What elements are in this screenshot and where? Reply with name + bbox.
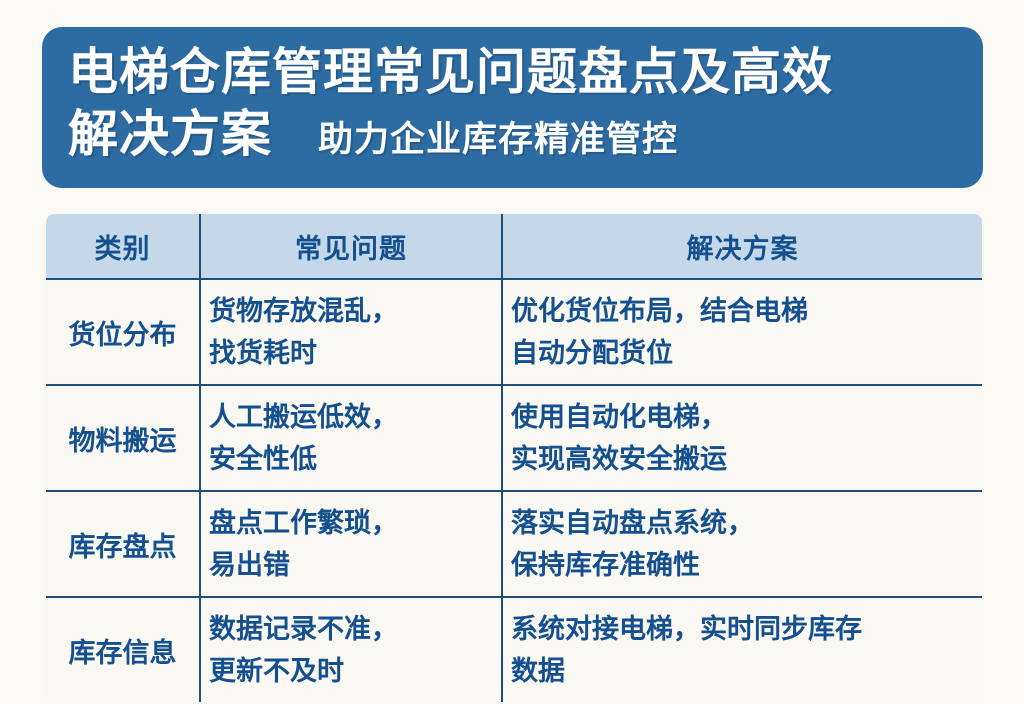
cell-category: 物料搬运 [45, 385, 200, 491]
table-body: 货位分布 货物存放混乱， 找货耗时 优化货位布局，结合电梯 自动分配货位 物料搬… [45, 279, 983, 703]
header-banner: 电梯仓库管理常见问题盘点及高效 解决方案 助力企业库存精准管控 [42, 27, 983, 188]
cell-category: 库存盘点 [45, 491, 200, 597]
table-row: 货位分布 货物存放混乱， 找货耗时 优化货位布局，结合电梯 自动分配货位 [45, 279, 983, 385]
cell-problem: 人工搬运低效， 安全性低 [200, 385, 502, 491]
page-subtitle: 助力企业库存精准管控 [318, 109, 678, 171]
page-root: 电梯仓库管理常见问题盘点及高效 解决方案 助力企业库存精准管控 类别 常见问题 … [0, 0, 1024, 683]
cell-problem-line-1: 货物存放混乱， [209, 290, 493, 332]
cell-problem: 货物存放混乱， 找货耗时 [200, 279, 502, 385]
cell-solution-line-2: 数据 [511, 650, 974, 692]
cell-problem-line-1: 人工搬运低效， [209, 396, 493, 438]
page-title-line-2: 解决方案 [68, 103, 272, 165]
column-header-category: 类别 [45, 213, 200, 279]
cell-solution-line-1: 使用自动化电梯， [511, 396, 974, 438]
column-header-problem: 常见问题 [200, 213, 502, 279]
cell-problem-line-2: 更新不及时 [209, 650, 493, 692]
cell-solution-line-1: 系统对接电梯，实时同步库存 [511, 608, 974, 650]
cell-problem-line-2: 找货耗时 [209, 332, 493, 374]
table-row: 库存信息 数据记录不准， 更新不及时 系统对接电梯，实时同步库存 数据 [45, 597, 983, 703]
title-subtitle-row: 解决方案 助力企业库存精准管控 [68, 103, 957, 171]
cell-problem-line-2: 易出错 [209, 544, 493, 586]
table-header-row: 类别 常见问题 解决方案 [45, 213, 983, 279]
page-title-line-1: 电梯仓库管理常见问题盘点及高效 [68, 41, 957, 103]
cell-solution-line-1: 优化货位布局，结合电梯 [511, 290, 974, 332]
cell-solution: 落实自动盘点系统， 保持库存准确性 [502, 491, 983, 597]
cell-problem-line-1: 盘点工作繁琐， [209, 502, 493, 544]
table-row: 库存盘点 盘点工作繁琐， 易出错 落实自动盘点系统， 保持库存准确性 [45, 491, 983, 597]
cell-solution-line-2: 实现高效安全搬运 [511, 438, 974, 480]
cell-solution: 使用自动化电梯， 实现高效安全搬运 [502, 385, 983, 491]
cell-problem-line-1: 数据记录不准， [209, 608, 493, 650]
table-header: 类别 常见问题 解决方案 [45, 213, 983, 279]
cell-solution-line-2: 自动分配货位 [511, 332, 974, 374]
cell-category: 货位分布 [45, 279, 200, 385]
cell-problem: 盘点工作繁琐， 易出错 [200, 491, 502, 597]
banner-content: 电梯仓库管理常见问题盘点及高效 解决方案 助力企业库存精准管控 [68, 41, 957, 171]
table-row: 物料搬运 人工搬运低效， 安全性低 使用自动化电梯， 实现高效安全搬运 [45, 385, 983, 491]
cell-category: 库存信息 [45, 597, 200, 703]
info-table-wrapper: 类别 常见问题 解决方案 货位分布 货物存放混乱， 找货耗时 优化货位布局，结合… [44, 212, 984, 677]
cell-solution: 优化货位布局，结合电梯 自动分配货位 [502, 279, 983, 385]
cell-solution-line-1: 落实自动盘点系统， [511, 502, 974, 544]
cell-solution: 系统对接电梯，实时同步库存 数据 [502, 597, 983, 703]
column-header-solution: 解决方案 [502, 213, 983, 279]
cell-problem-line-2: 安全性低 [209, 438, 493, 480]
cell-problem: 数据记录不准， 更新不及时 [200, 597, 502, 703]
info-table: 类别 常见问题 解决方案 货位分布 货物存放混乱， 找货耗时 优化货位布局，结合… [44, 212, 984, 704]
cell-solution-line-2: 保持库存准确性 [511, 544, 974, 586]
